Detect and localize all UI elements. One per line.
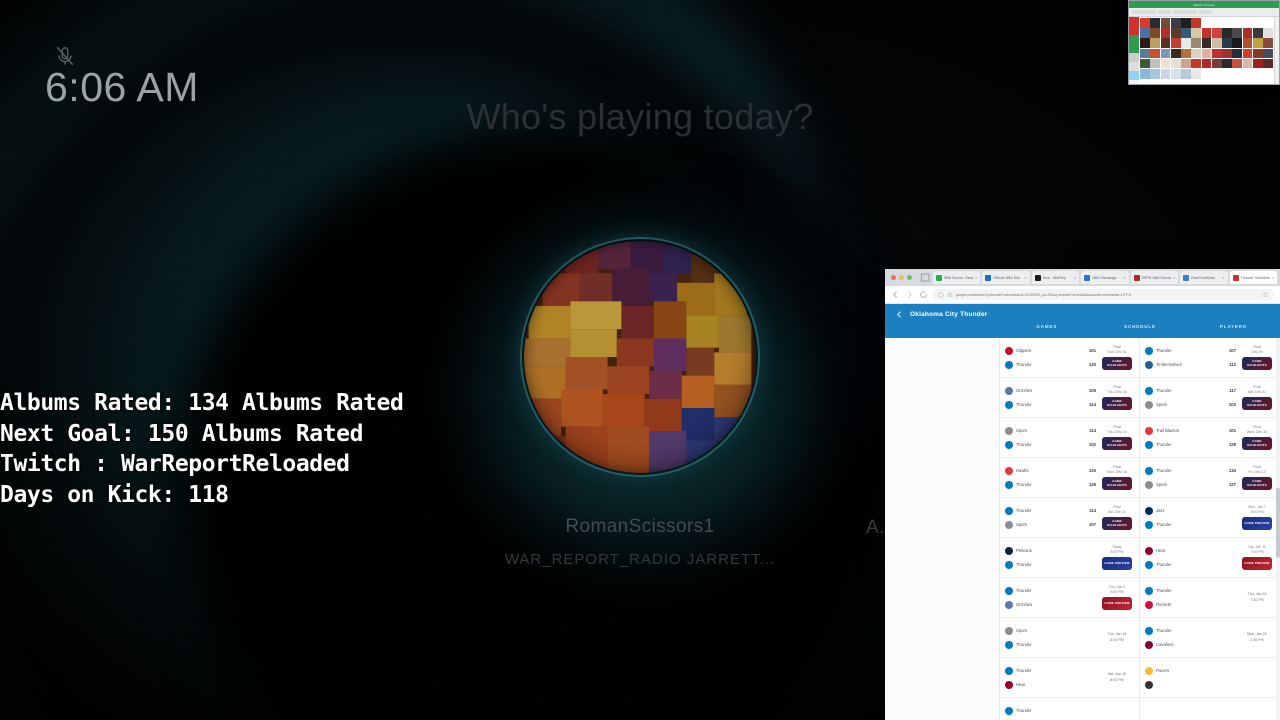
album-grid-window[interactable]: Album Covers: [1128, 0, 1280, 85]
game-team-home: Rockets: [1145, 598, 1236, 612]
album-thumbnail[interactable]: [1191, 59, 1201, 69]
team-name: Thunder: [1156, 588, 1218, 593]
album-thumbnail[interactable]: [1253, 18, 1263, 28]
grid-sidebar-swatch[interactable]: [1129, 44, 1139, 53]
overlay-line-twitch: Twitch : WarReportReloaded: [0, 449, 470, 480]
grid-window-title-bar[interactable]: Album Covers: [1129, 1, 1279, 8]
maximize-window-button[interactable]: [907, 275, 912, 280]
left-content-pane: [885, 338, 1000, 720]
tab-title: Thunder Schedule: [1241, 276, 1270, 280]
album-thumbnail[interactable]: [1171, 18, 1181, 28]
album-thumbnail[interactable]: [1232, 38, 1242, 48]
album-thumbnail[interactable]: [1161, 69, 1171, 79]
album-thumbnail[interactable]: [1222, 18, 1232, 28]
grid-sidebar-swatch[interactable]: [1129, 62, 1139, 71]
close-tab-icon[interactable]: ×: [1272, 275, 1274, 280]
game-row[interactable]: Hawks120Thunder126FinalMon, Dec 16GAME H…: [1000, 458, 1139, 498]
album-thumbnail[interactable]: [1140, 69, 1150, 79]
close-window-button[interactable]: [891, 275, 896, 280]
team-logo-icon: [1145, 667, 1153, 675]
back-arrow-icon[interactable]: [891, 290, 900, 299]
game-teams: Pacers: [1145, 664, 1236, 692]
tab-title: NBA Standings: [1092, 276, 1121, 280]
album-thumbnail[interactable]: [1243, 28, 1253, 38]
game-datetime: 7:30 PM: [1240, 598, 1274, 604]
team-score: 107: [1081, 522, 1096, 527]
team-logo-icon: [1005, 467, 1013, 475]
album-thumbnail[interactable]: [1150, 38, 1160, 48]
game-meta: FinalDec 29GAME HIGHLIGHTS: [1240, 345, 1274, 370]
team-logo-icon: [1005, 441, 1013, 449]
close-tab-icon[interactable]: ×: [1074, 275, 1076, 280]
game-row[interactable]: PelicansThunderToday8:00 PMGAME PREVIEW: [1000, 538, 1139, 578]
album-thumbnail[interactable]: [1253, 38, 1263, 48]
grid-window-title: Album Covers: [1193, 3, 1214, 7]
game-row[interactable]: SpursThunderTue, Jan 148:00 PM: [1000, 618, 1139, 658]
grid-right-rail: [1274, 17, 1279, 85]
grid-window-toolbar[interactable]: [1129, 8, 1279, 17]
album-thumbnail[interactable]: [1140, 18, 1150, 28]
team-logo-icon: [1145, 481, 1153, 489]
tab-favicon-icon: [936, 275, 942, 281]
album-thumbnail[interactable]: [1150, 69, 1160, 79]
album-thumbnail[interactable]: [1243, 49, 1253, 59]
game-datetime: Thu, Dec 19: [1100, 430, 1134, 435]
album-thumbnail[interactable]: [1243, 18, 1253, 28]
album-thumbnail[interactable]: [1181, 59, 1191, 69]
game-meta: FinalMon, Dec 16GAME HIGHLIGHTS: [1100, 465, 1134, 490]
toolbar-group-3[interactable]: [1173, 10, 1197, 14]
game-meta: Thu, Jan 98:00 PMGAME PREVIEW: [1100, 585, 1134, 610]
tab-title: ESPN NBA Scores: [1142, 276, 1171, 280]
album-thumbnail[interactable]: [1191, 38, 1201, 48]
grid-sidebar-swatch[interactable]: [1129, 53, 1139, 62]
album-thumbnail[interactable]: [1253, 59, 1263, 69]
album-thumbnail[interactable]: [1161, 49, 1171, 59]
team-name: Thunder: [1156, 628, 1218, 633]
album-thumbnail[interactable]: [1140, 38, 1150, 48]
album-thumbnail[interactable]: [1181, 69, 1191, 79]
team-name: Pacers: [1156, 668, 1218, 673]
column-header-players[interactable]: PLAYERS: [1187, 324, 1280, 329]
game-badge-button[interactable]: GAME HIGHLIGHTS: [1102, 397, 1132, 410]
album-thumbnail[interactable]: [1171, 59, 1181, 69]
team-name: Jazz: [1156, 508, 1218, 513]
column-header-schedule[interactable]: SCHEDULE: [1093, 324, 1186, 329]
album-thumbnail[interactable]: [1212, 59, 1222, 69]
game-row[interactable]: Thunder107Timberwolves112FinalDec 29GAME…: [1140, 338, 1279, 378]
album-thumbnail[interactable]: [1232, 49, 1242, 59]
team-logo-icon: [1005, 547, 1013, 555]
browser-window[interactable]: NBA Scores, Stats×Official NBA Site×Kick…: [885, 269, 1280, 720]
album-thumbnail[interactable]: [1140, 59, 1150, 69]
game-badge-button[interactable]: GAME HIGHLIGHTS: [1102, 517, 1132, 530]
album-thumbnail[interactable]: [1263, 38, 1273, 48]
url-text: google.com/search?q=thunder+schedule&rlz…: [956, 293, 1259, 297]
game-datetime: Thu, Dec 26: [1100, 390, 1134, 395]
team-name: Spurs: [1016, 628, 1078, 633]
team-name: Thunder: [1016, 642, 1078, 647]
game-teams: Thunder: [1005, 704, 1096, 720]
team-name: Clippers: [1016, 348, 1078, 353]
tab-favicon-icon: [1134, 275, 1140, 281]
game-team-home: Timberwolves112: [1145, 358, 1236, 372]
team-name: Thunder: [1016, 588, 1078, 593]
game-row[interactable]: ThunderHeatSat, Jan 188:00 PM: [1000, 658, 1139, 698]
team-logo-icon: [1005, 681, 1013, 689]
browser-tab[interactable]: Kick - WarRep×: [1032, 271, 1079, 284]
album-thumbnail[interactable]: [1212, 69, 1222, 79]
team-score: 101: [1221, 428, 1236, 433]
game-teams: ThunderCavaliers: [1145, 624, 1236, 652]
browser-tab[interactable]: NBA Standings×: [1081, 271, 1128, 284]
close-tab-icon[interactable]: ×: [1025, 275, 1027, 280]
album-thumbnail[interactable]: [1150, 18, 1160, 28]
toolbar-group-2[interactable]: [1158, 10, 1171, 14]
team-name: Pelicans: [1016, 548, 1078, 553]
grid-sidebar-swatch[interactable]: [1129, 35, 1139, 44]
scrollbar-thumb[interactable]: [1276, 488, 1280, 558]
album-thumbnail[interactable]: [1181, 28, 1191, 38]
tab-favicon-icon: [1035, 275, 1041, 281]
game-row[interactable]: Thunder114Spurs107FinalSat, Dec 14GAME H…: [1000, 498, 1139, 538]
album-thumbnail[interactable]: [1191, 18, 1201, 28]
game-meta: Today8:00 PMGAME PREVIEW: [1100, 545, 1134, 570]
game-meta: FinalTue, Dec 31GAME HIGHLIGHTS: [1100, 345, 1134, 370]
game-team-home: Spurs103: [1145, 398, 1236, 412]
game-datetime: Sat, Dec 21: [1240, 390, 1274, 395]
game-team-home: Thunder: [1005, 638, 1096, 652]
close-tab-icon[interactable]: ×: [1222, 275, 1224, 280]
toolbar-group-4[interactable]: [1199, 10, 1212, 14]
team-name: Thunder: [1016, 508, 1078, 513]
game-row[interactable]: Thunder134Spurs127FinalFri, Dec 13GAME H…: [1140, 458, 1279, 498]
game-datetime: 7:00 PM: [1240, 550, 1274, 555]
game-meta: Mon, Jan 202:30 PM: [1240, 632, 1274, 643]
team-score: 101: [1081, 348, 1096, 353]
team-name: Thunder: [1016, 402, 1078, 407]
team-score: 103: [1221, 402, 1236, 407]
team-logo-icon: [1005, 667, 1013, 675]
game-badge-button[interactable]: GAME PREVIEW: [1242, 517, 1272, 530]
album-thumbnail[interactable]: [1181, 38, 1191, 48]
album-thumbnail[interactable]: [1263, 69, 1273, 79]
team-score: 114: [1081, 508, 1096, 513]
close-tab-icon[interactable]: ×: [1173, 275, 1175, 280]
game-meta: FinalSat, Dec 21GAME HIGHLIGHTS: [1240, 385, 1274, 410]
album-thumbnail[interactable]: [1212, 38, 1222, 48]
album-thumbnail[interactable]: [1212, 49, 1222, 59]
team-logo-icon: [1005, 601, 1013, 609]
game-team-home: Thunder: [1145, 558, 1236, 572]
album-thumbnail[interactable]: [1222, 69, 1232, 79]
reload-icon[interactable]: [919, 290, 928, 299]
schedule-column-right: Thunder107Timberwolves112FinalDec 29GAME…: [1140, 338, 1280, 720]
album-thumbnail[interactable]: [1212, 18, 1222, 28]
album-thumbnail[interactable]: [1140, 49, 1150, 59]
game-badge-button[interactable]: GAME PREVIEW: [1242, 557, 1272, 570]
close-tab-icon[interactable]: ×: [1123, 275, 1125, 280]
album-thumbnail[interactable]: [1232, 59, 1242, 69]
team-header-bar: Oklahoma City Thunder: [885, 304, 1280, 324]
team-logo-icon: [1145, 521, 1153, 529]
game-datetime: 8:00 PM: [1240, 510, 1274, 515]
game-row[interactable]: Spurs114Thunder102FinalThu, Dec 19GAME H…: [1000, 418, 1139, 458]
avatar[interactable]: [520, 237, 760, 477]
album-thumbnail[interactable]: [1202, 28, 1212, 38]
address-bar[interactable]: google.com/search?q=thunder+schedule&rlz…: [933, 289, 1274, 300]
browser-tab[interactable]: Official NBA Site×: [982, 271, 1029, 284]
album-thumbnail[interactable]: [1171, 49, 1181, 59]
album-thumbnail[interactable]: [1140, 28, 1150, 38]
forward-arrow-icon[interactable]: [905, 290, 914, 299]
game-teams: Thunder134Spurs127: [1145, 464, 1236, 492]
album-thumbnail[interactable]: [1202, 59, 1212, 69]
column-headers: GAMES SCHEDULE PLAYERS: [885, 324, 1280, 338]
tab-title: Official NBA Site: [993, 276, 1022, 280]
game-badge-button[interactable]: GAME HIGHLIGHTS: [1102, 477, 1132, 490]
bookmark-star-icon[interactable]: [1262, 291, 1269, 298]
team-name: Cavaliers: [1156, 642, 1218, 647]
game-team-home: Thunder129: [1145, 438, 1236, 452]
game-team-home: Cavaliers: [1145, 638, 1236, 652]
new-tab-icon[interactable]: [920, 272, 931, 283]
game-team-away: Jazz: [1145, 504, 1236, 518]
team-logo-icon: [1005, 587, 1013, 595]
album-thumbnail[interactable]: [1263, 28, 1273, 38]
game-teams: SpursThunder: [1005, 624, 1096, 652]
game-badge-button[interactable]: GAME HIGHLIGHTS: [1102, 437, 1132, 450]
album-thumbnail[interactable]: [1171, 28, 1181, 38]
album-thumbnail[interactable]: [1263, 59, 1273, 69]
grid-sidebar-swatch[interactable]: [1129, 26, 1139, 35]
browser-tab[interactable]: NBA Scores, Stats×: [933, 271, 980, 284]
team-logo-icon: [1145, 601, 1153, 609]
album-thumbnail[interactable]: [1263, 18, 1273, 28]
game-badge-button[interactable]: GAME HIGHLIGHTS: [1242, 397, 1272, 410]
album-thumbnail[interactable]: [1202, 38, 1212, 48]
team-logo-icon: [1005, 481, 1013, 489]
game-row[interactable]: ThunderGrizzliesThu, Jan 98:00 PMGAME PR…: [1000, 578, 1139, 618]
game-badge-button[interactable]: GAME HIGHLIGHTS: [1242, 357, 1272, 370]
album-thumbnail[interactable]: [1222, 59, 1232, 69]
team-logo-icon: [1145, 641, 1153, 649]
album-thumbnail[interactable]: [1150, 28, 1160, 38]
album-thumbnail[interactable]: [1202, 18, 1212, 28]
team-score: 129: [1221, 442, 1236, 447]
album-thumbnail[interactable]: [1232, 69, 1242, 79]
album-thumbnail[interactable]: [1181, 49, 1191, 59]
album-thumbnail[interactable]: [1202, 49, 1212, 59]
tab-favicon-icon: [985, 275, 991, 281]
game-team-away: Clippers101: [1005, 344, 1096, 358]
column-header-games[interactable]: GAMES: [1000, 324, 1093, 329]
team-score: 114: [1081, 402, 1096, 407]
team-name: Thunder: [1016, 362, 1078, 367]
team-score: 120: [1081, 468, 1096, 473]
overlay-line-albums-rated: Albums Rated: 134 Albums Rated: [0, 388, 470, 419]
game-team-away: Thunder: [1145, 584, 1236, 598]
stream-overlay-text: Albums Rated: 134 Albums Rated Next Goal…: [0, 388, 470, 510]
tab-favicon-icon: [1183, 275, 1189, 281]
game-datetime: Dec 29: [1240, 350, 1274, 355]
team-name: Spurs: [1016, 522, 1078, 527]
game-teams: HeatThunder: [1145, 544, 1236, 572]
game-row[interactable]: Grizzlies105Thunder114FinalThu, Dec 26GA…: [1000, 378, 1139, 418]
team-name: Thunder: [1156, 562, 1218, 567]
game-team-home: Grizzlies: [1005, 598, 1096, 612]
game-row[interactable]: Thunder: [1000, 698, 1139, 720]
album-thumbnail[interactable]: [1161, 28, 1171, 38]
game-badge-button[interactable]: GAME HIGHLIGHTS: [1242, 477, 1272, 490]
team-logo-icon: [1005, 641, 1013, 649]
album-thumbnail[interactable]: [1243, 59, 1253, 69]
album-thumbnail[interactable]: [1161, 18, 1171, 28]
team-name: Hawks: [1016, 468, 1078, 473]
album-thumbnail[interactable]: [1232, 18, 1242, 28]
team-logo-icon: [1145, 347, 1153, 355]
game-badge-button[interactable]: GAME PREVIEW: [1102, 557, 1132, 570]
browser-toolbar[interactable]: google.com/search?q=thunder+schedule&rlz…: [885, 286, 1280, 304]
album-thumbnail[interactable]: [1191, 49, 1201, 59]
album-thumbnail[interactable]: [1243, 38, 1253, 48]
album-thumbnail[interactable]: [1150, 49, 1160, 59]
album-thumbnail[interactable]: [1161, 38, 1171, 48]
game-meta: FinalThu, Dec 26GAME HIGHLIGHTS: [1100, 385, 1134, 410]
game-team-away: Thunder114: [1005, 504, 1096, 518]
grid-sidebar[interactable]: [1129, 17, 1139, 85]
album-thumbnail-grid[interactable]: [1139, 17, 1274, 85]
game-team-away: Pacers: [1145, 664, 1236, 678]
game-team-away: Heat: [1145, 544, 1236, 558]
game-row[interactable]: HeatThunderSat, Jan 117:00 PMGAME PREVIE…: [1140, 538, 1279, 578]
album-thumbnail[interactable]: [1232, 28, 1242, 38]
team-logo-icon: [1145, 681, 1153, 689]
game-datetime: Mon, Dec 16: [1100, 470, 1134, 475]
game-meta: Sat, Jan 188:00 PM: [1100, 672, 1134, 683]
avatar-ring: [520, 237, 760, 477]
toolbar-group-1[interactable]: [1132, 10, 1156, 14]
schedule-columns: Clippers101Thunder120FinalTue, Dec 31GAM…: [1000, 338, 1280, 720]
overlay-line-next-goal: Next Goal: 150 Albums Rated: [0, 419, 470, 450]
team-logo-icon: [1005, 387, 1013, 395]
team-logo-icon: [1145, 467, 1153, 475]
album-thumbnail[interactable]: [1171, 69, 1181, 79]
album-thumbnail[interactable]: [1253, 69, 1263, 79]
game-badge-button[interactable]: GAME HIGHLIGHTS: [1242, 437, 1272, 450]
vertical-scrollbar[interactable]: [1276, 338, 1280, 720]
tab-title: NBA Scores, Stats: [944, 276, 973, 280]
browser-tab[interactable]: Thunder Schedule×: [1230, 271, 1277, 284]
game-team-home: Thunder126: [1005, 478, 1096, 492]
team-score: 102: [1081, 442, 1096, 447]
game-team-away: Grizzlies105: [1005, 384, 1096, 398]
page-body: Clippers101Thunder120FinalTue, Dec 31GAM…: [885, 338, 1280, 720]
minimize-window-button[interactable]: [899, 275, 904, 280]
album-thumbnail[interactable]: [1253, 49, 1263, 59]
team-logo-icon: [1005, 347, 1013, 355]
album-thumbnail[interactable]: [1150, 59, 1160, 69]
game-row[interactable]: Pacers: [1140, 658, 1279, 698]
team-score: 127: [1221, 482, 1236, 487]
team-logo-icon: [1145, 427, 1153, 435]
game-row[interactable]: ThunderRocketsThu, Jan 167:30 PM: [1140, 578, 1279, 618]
tab-title: Kick - WarRep: [1043, 276, 1072, 280]
browser-tab[interactable]: ESPN NBA Scores×: [1131, 271, 1178, 284]
album-thumbnail[interactable]: [1202, 69, 1212, 79]
album-thumbnail[interactable]: [1263, 49, 1273, 59]
back-arrow-icon[interactable]: [895, 310, 904, 319]
album-thumbnail[interactable]: [1181, 18, 1191, 28]
browser-tab[interactable]: RateYourMusic×: [1180, 271, 1227, 284]
album-thumbnail[interactable]: [1161, 59, 1171, 69]
search-icon: [947, 292, 953, 298]
album-thumbnail[interactable]: [1171, 38, 1181, 48]
team-name: Thunder: [1156, 388, 1218, 393]
team-logo-icon: [1005, 707, 1013, 715]
album-thumbnail[interactable]: [1253, 28, 1263, 38]
game-datetime: 8:00 PM: [1100, 638, 1134, 644]
info-circle-icon: [938, 292, 944, 298]
album-thumbnail[interactable]: [1222, 38, 1232, 48]
team-name: Heat: [1016, 682, 1078, 687]
team-name: Trail Blazers: [1156, 428, 1218, 433]
close-tab-icon[interactable]: ×: [975, 275, 977, 280]
game-row[interactable]: ThunderCavaliersMon, Jan 202:30 PM: [1140, 618, 1279, 658]
game-row[interactable]: Clippers101Thunder120FinalTue, Dec 31GAM…: [1000, 338, 1139, 378]
team-logo-icon: [1005, 561, 1013, 569]
game-datetime: 8:00 PM: [1100, 678, 1134, 684]
game-badge-button[interactable]: GAME HIGHLIGHTS: [1102, 357, 1132, 370]
team-score: 114: [1081, 428, 1096, 433]
page-title: Who's playing today?: [0, 96, 1280, 138]
browser-tab-strip[interactable]: NBA Scores, Stats×Official NBA Site×Kick…: [885, 269, 1280, 286]
game-meta: FinalWed, Dec 18GAME HIGHLIGHTS: [1240, 425, 1274, 450]
game-team-away: Spurs: [1005, 624, 1096, 638]
game-teams: Grizzlies105Thunder114: [1005, 384, 1096, 412]
team-name: Thunder: [1156, 348, 1218, 353]
album-thumbnail[interactable]: [1191, 28, 1201, 38]
game-meta: FinalSat, Dec 14GAME HIGHLIGHTS: [1100, 505, 1134, 530]
album-thumbnail[interactable]: [1191, 69, 1201, 79]
grid-sidebar-swatch[interactable]: [1129, 71, 1139, 80]
album-thumbnail[interactable]: [1243, 69, 1253, 79]
window-traffic-lights[interactable]: [888, 275, 918, 280]
game-team-away: Spurs114: [1005, 424, 1096, 438]
team-score: 107: [1221, 348, 1236, 353]
game-badge-button[interactable]: GAME PREVIEW: [1102, 597, 1132, 610]
team-logo-icon: [1145, 587, 1153, 595]
album-thumbnail[interactable]: [1222, 28, 1232, 38]
album-thumbnail[interactable]: [1222, 49, 1232, 59]
game-row[interactable]: Trail Blazers101Thunder129FinalWed, Dec …: [1140, 418, 1279, 458]
game-team-away: Thunder107: [1145, 344, 1236, 358]
team-logo-icon: [1145, 627, 1153, 635]
game-teams: Thunder117Spurs103: [1145, 384, 1236, 412]
team-name: Grizzlies: [1016, 602, 1078, 607]
game-row[interactable]: JazzThunderMon, Jan 78:00 PMGAME PREVIEW: [1140, 498, 1279, 538]
game-meta: Tue, Jan 148:00 PM: [1100, 632, 1134, 643]
album-thumbnail[interactable]: [1212, 28, 1222, 38]
game-teams: Thunder114Spurs107: [1005, 504, 1096, 532]
team-logo-icon: [1005, 627, 1013, 635]
game-team-home: Thunder114: [1005, 398, 1096, 412]
team-logo-icon: [1005, 401, 1013, 409]
team-name: Spurs: [1156, 402, 1218, 407]
game-row[interactable]: Thunder117Spurs103FinalSat, Dec 21GAME H…: [1140, 378, 1279, 418]
game-team-home: Spurs107: [1005, 518, 1096, 532]
grid-sidebar-swatch[interactable]: [1129, 17, 1139, 26]
